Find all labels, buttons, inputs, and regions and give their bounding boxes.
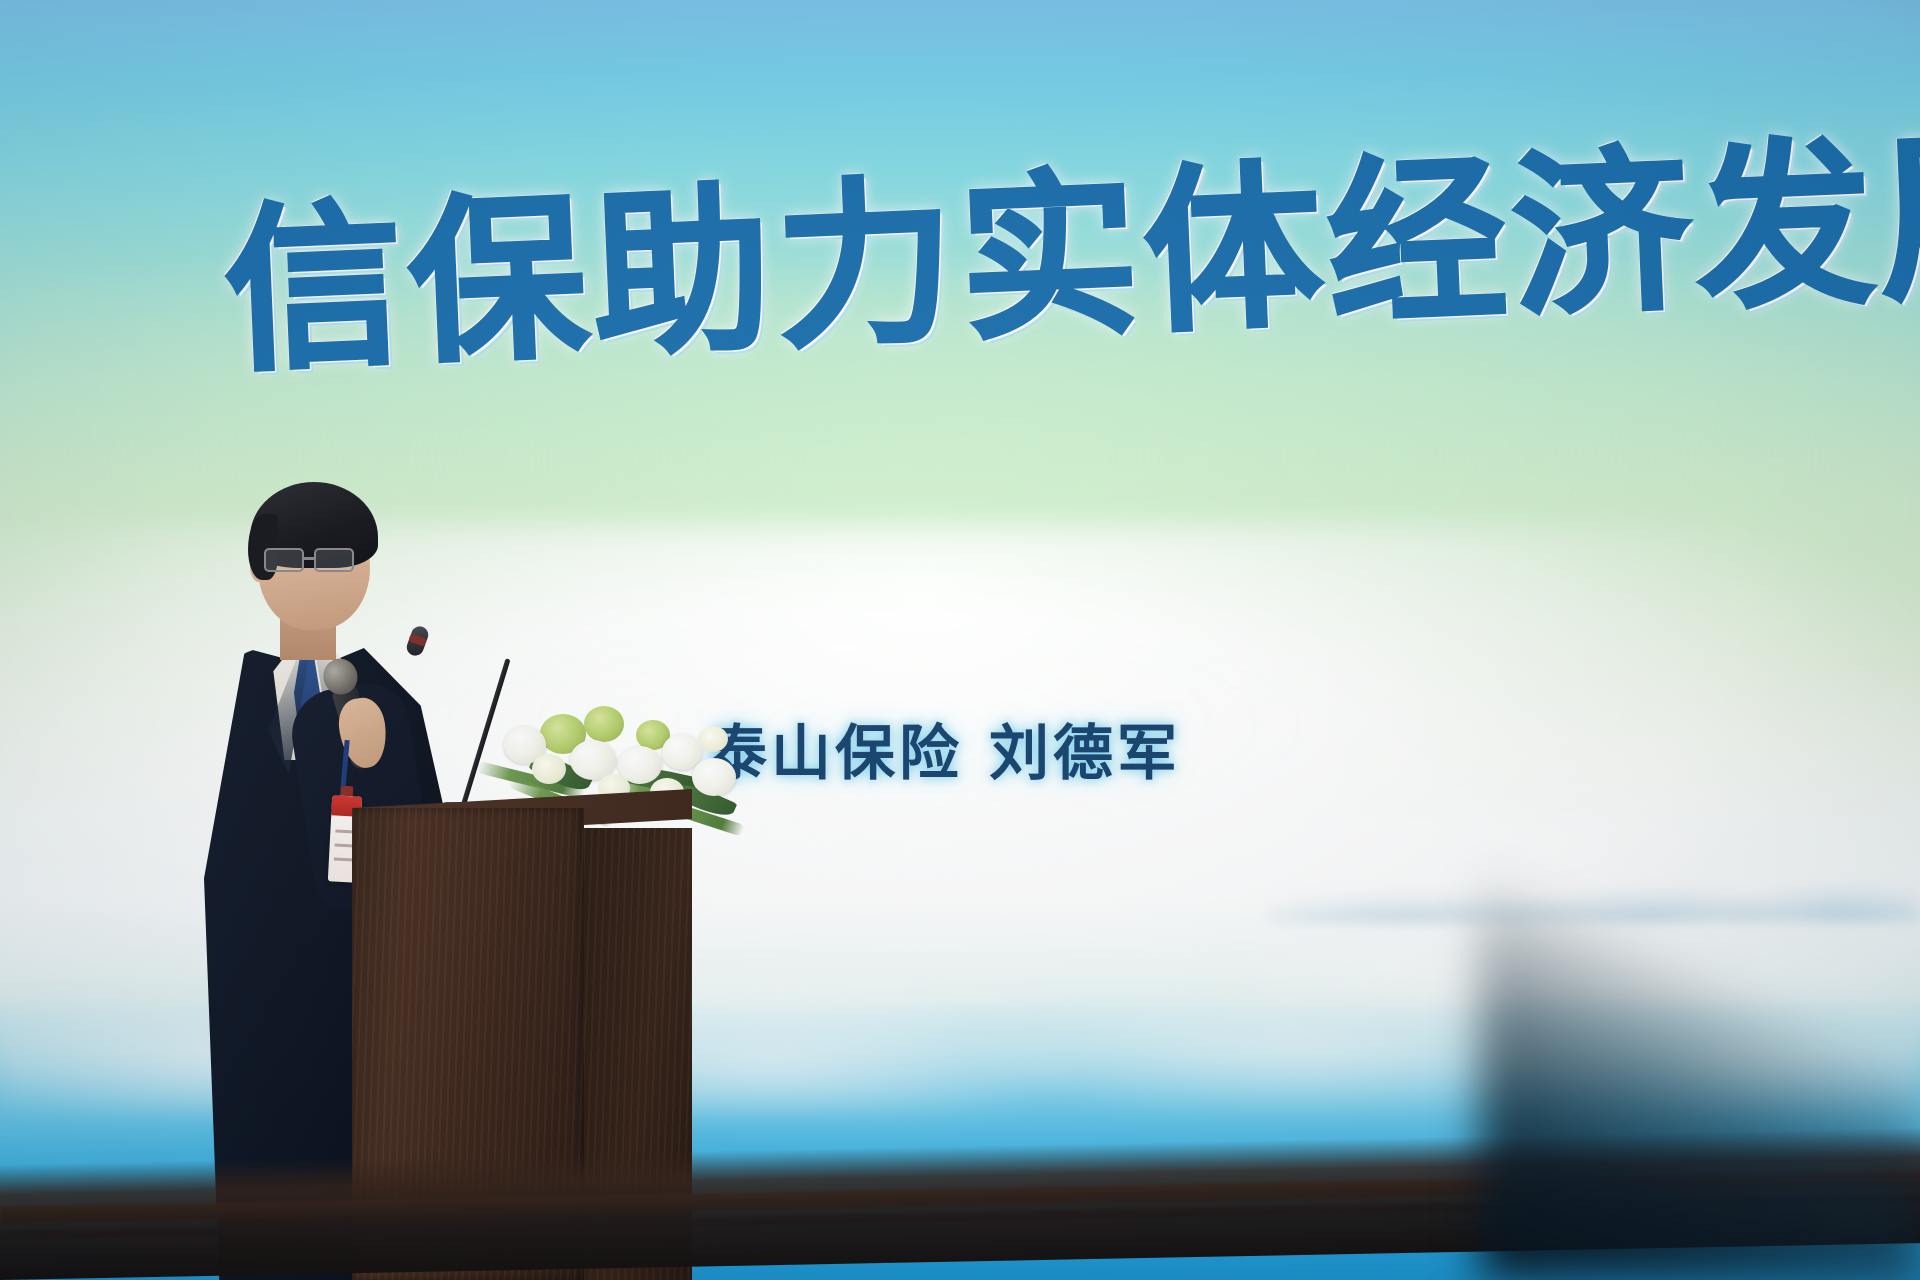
glasses-bridge — [304, 557, 316, 560]
headline-char: 力 — [773, 169, 965, 362]
slide-subtitle: 泰山保险刘德军 — [707, 705, 1181, 792]
mic-stem — [460, 658, 510, 809]
headline-char: 实 — [956, 162, 1148, 355]
subtitle-speaker-name: 刘德军 — [989, 720, 1181, 787]
foreground-blur — [1480, 850, 1920, 1280]
green-bloom — [584, 706, 624, 742]
white-bloom — [692, 758, 736, 796]
headline-char: 信 — [221, 192, 413, 385]
headline-char: 助 — [589, 177, 781, 370]
cream-bloom — [532, 754, 566, 784]
lens-right — [314, 548, 354, 572]
headline-char: 经 — [1324, 146, 1516, 339]
badge-text-line — [334, 857, 354, 861]
cream-bloom — [698, 726, 728, 752]
headline-char: 保 — [405, 185, 597, 378]
headline-char: 体 — [1140, 154, 1332, 347]
lens-left — [264, 548, 304, 572]
headline-char: 发 — [1692, 131, 1884, 324]
presentation-photo-scene: 信保助力实体经济发展 泰山保险刘德军 — [0, 0, 1920, 1280]
headline-char: 展 — [1876, 123, 1920, 316]
gooseneck-microphone — [404, 628, 534, 808]
headline-char: 济 — [1508, 138, 1700, 331]
eyeglasses-icon — [264, 548, 368, 574]
